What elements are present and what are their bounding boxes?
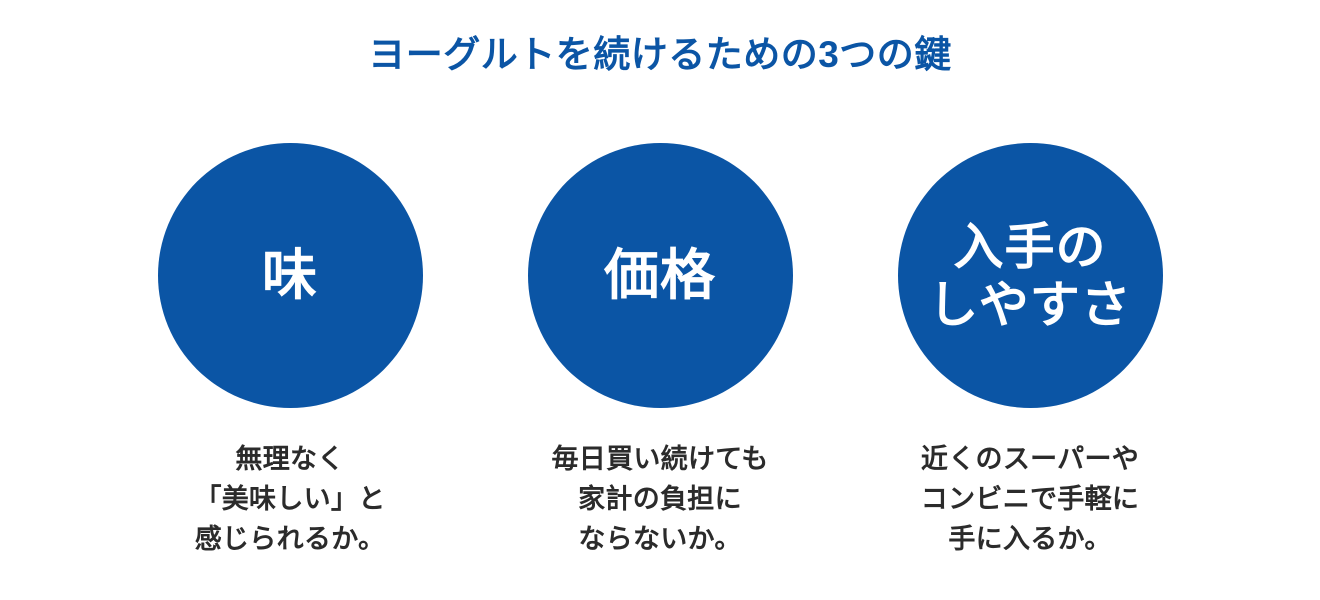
key-circle-label-availability: 入手の しやすさ	[928, 218, 1132, 334]
key-column-taste: 味 無理なく 「美味しい」と 感じられるか。	[157, 143, 423, 559]
infographic-root: ヨーグルトを続けるための3つの鍵 味 無理なく 「美味しい」と 感じられるか。 …	[0, 0, 1320, 600]
circle-label-line: 味	[262, 246, 318, 305]
circle-label-line: 入手の	[928, 218, 1132, 276]
key-circle-taste: 味	[158, 143, 423, 408]
caption-line: 毎日買い続けても	[551, 439, 768, 479]
circle-label-line: 価格	[604, 246, 716, 305]
key-circle-label-price: 価格	[604, 246, 716, 305]
key-column-price: 価格 毎日買い続けても 家計の負担に ならないか。	[527, 143, 793, 559]
key-column-availability: 入手の しやすさ 近くのスーパーや コンビニで手軽に 手に入るか。	[897, 143, 1163, 559]
caption-line: 手に入るか。	[921, 519, 1139, 559]
key-caption-availability: 近くのスーパーや コンビニで手軽に 手に入るか。	[921, 439, 1139, 559]
caption-line: 家計の負担に	[551, 479, 768, 519]
caption-line: 近くのスーパーや	[921, 439, 1139, 479]
caption-line: コンビニで手軽に	[921, 479, 1139, 519]
key-circle-price: 価格	[528, 143, 793, 408]
caption-line: ならないか。	[551, 519, 768, 559]
caption-line: 無理なく	[194, 439, 385, 479]
caption-line: 感じられるか。	[194, 519, 385, 559]
key-caption-taste: 無理なく 「美味しい」と 感じられるか。	[194, 439, 385, 559]
key-circle-label-taste: 味	[262, 246, 318, 305]
page-title: ヨーグルトを続けるための3つの鍵	[0, 32, 1320, 78]
key-columns: 味 無理なく 「美味しい」と 感じられるか。 価格 毎日買い続けても 家計の負担…	[0, 143, 1320, 559]
caption-line: 「美味しい」と	[194, 479, 385, 519]
key-circle-availability: 入手の しやすさ	[898, 143, 1163, 408]
circle-label-line: しやすさ	[928, 276, 1132, 334]
key-caption-price: 毎日買い続けても 家計の負担に ならないか。	[551, 439, 768, 559]
